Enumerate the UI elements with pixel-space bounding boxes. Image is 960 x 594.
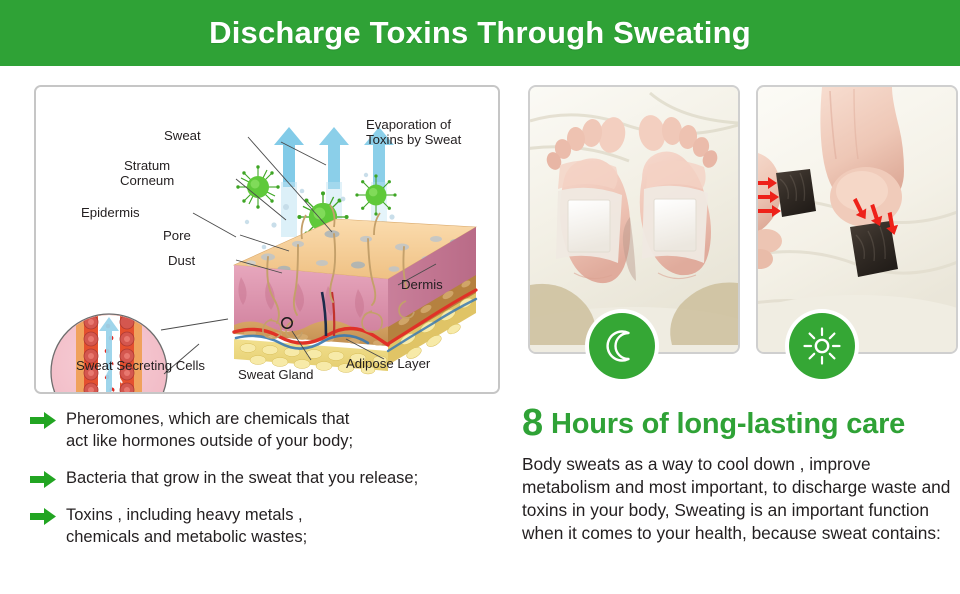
hours-heading: 8 Hours of long-lasting care: [522, 404, 954, 442]
diagram-label-dermis: Dermis: [401, 277, 443, 292]
photo-feet-fresh-patches-svg: [530, 87, 738, 352]
list-item-label: Pheromones, which are chemicals that act…: [66, 408, 353, 452]
photo-feet-with-used-patches: [756, 85, 958, 354]
green-arrow-icon: [30, 470, 57, 489]
photo-feet-used-patches-svg: [758, 87, 956, 352]
foot-patch-fresh-right: [642, 186, 708, 263]
day-badge: [789, 313, 855, 379]
body-paragraph: Body sweats as a way to cool down , impr…: [522, 453, 954, 545]
diagram-label-evaporation-2: Toxins by Sweat: [366, 132, 462, 147]
green-arrow-icon: [30, 411, 57, 430]
diagram-label-evaporation-1: Evaporation of: [366, 117, 451, 132]
list-item: Pheromones, which are chemicals that act…: [30, 408, 505, 452]
diagram-label-dust: Dust: [168, 253, 195, 268]
skin-diagram-panel: Sweat Stratum Corneum Epidermis Pore Dus…: [34, 85, 500, 394]
photo-feet-with-fresh-patches: [528, 85, 740, 354]
list-item: Bacteria that grow in the sweat that you…: [30, 467, 505, 489]
moon-icon: [603, 327, 641, 365]
list-item-label: Bacteria that grow in the sweat that you…: [66, 467, 418, 489]
green-arrow-icon: [30, 507, 57, 526]
foot-patch-fresh-left: [556, 188, 622, 263]
diagram-label-adipose-layer: Adipose Layer: [346, 356, 431, 371]
night-badge: [589, 313, 655, 379]
list-item: Toxins , including heavy metals , chemic…: [30, 504, 505, 548]
benefits-bullet-list: Pheromones, which are chemicals that act…: [30, 408, 505, 564]
hours-number: 8: [522, 402, 543, 444]
skin-diagram-svg: Sweat Stratum Corneum Epidermis Pore Dus…: [36, 87, 498, 392]
page-header-bar: Discharge Toxins Through Sweating: [0, 0, 960, 66]
page-title: Discharge Toxins Through Sweating: [209, 15, 751, 51]
right-leg: [820, 87, 904, 227]
hours-label: Hours of long-lasting care: [543, 408, 905, 440]
long-lasting-care-section: 8 Hours of long-lasting care Body sweats…: [522, 404, 954, 545]
diagram-label-sweat-secreting-cells: Sweat Secreting Cells: [76, 358, 205, 373]
diagram-label-pore: Pore: [163, 228, 191, 243]
sun-icon: [803, 327, 841, 365]
diagram-label-stratum-corneum-1: Stratum: [124, 158, 170, 173]
diagram-label-sweat: Sweat: [164, 128, 201, 143]
diagram-label-epidermis: Epidermis: [81, 205, 140, 220]
diagram-label-sweat-gland: Sweat Gland: [238, 367, 314, 382]
diagram-label-stratum-corneum-2: Corneum: [120, 173, 174, 188]
list-item-label: Toxins , including heavy metals , chemic…: [66, 504, 307, 548]
skin-diagram-illustration: Sweat Stratum Corneum Epidermis Pore Dus…: [36, 87, 498, 392]
